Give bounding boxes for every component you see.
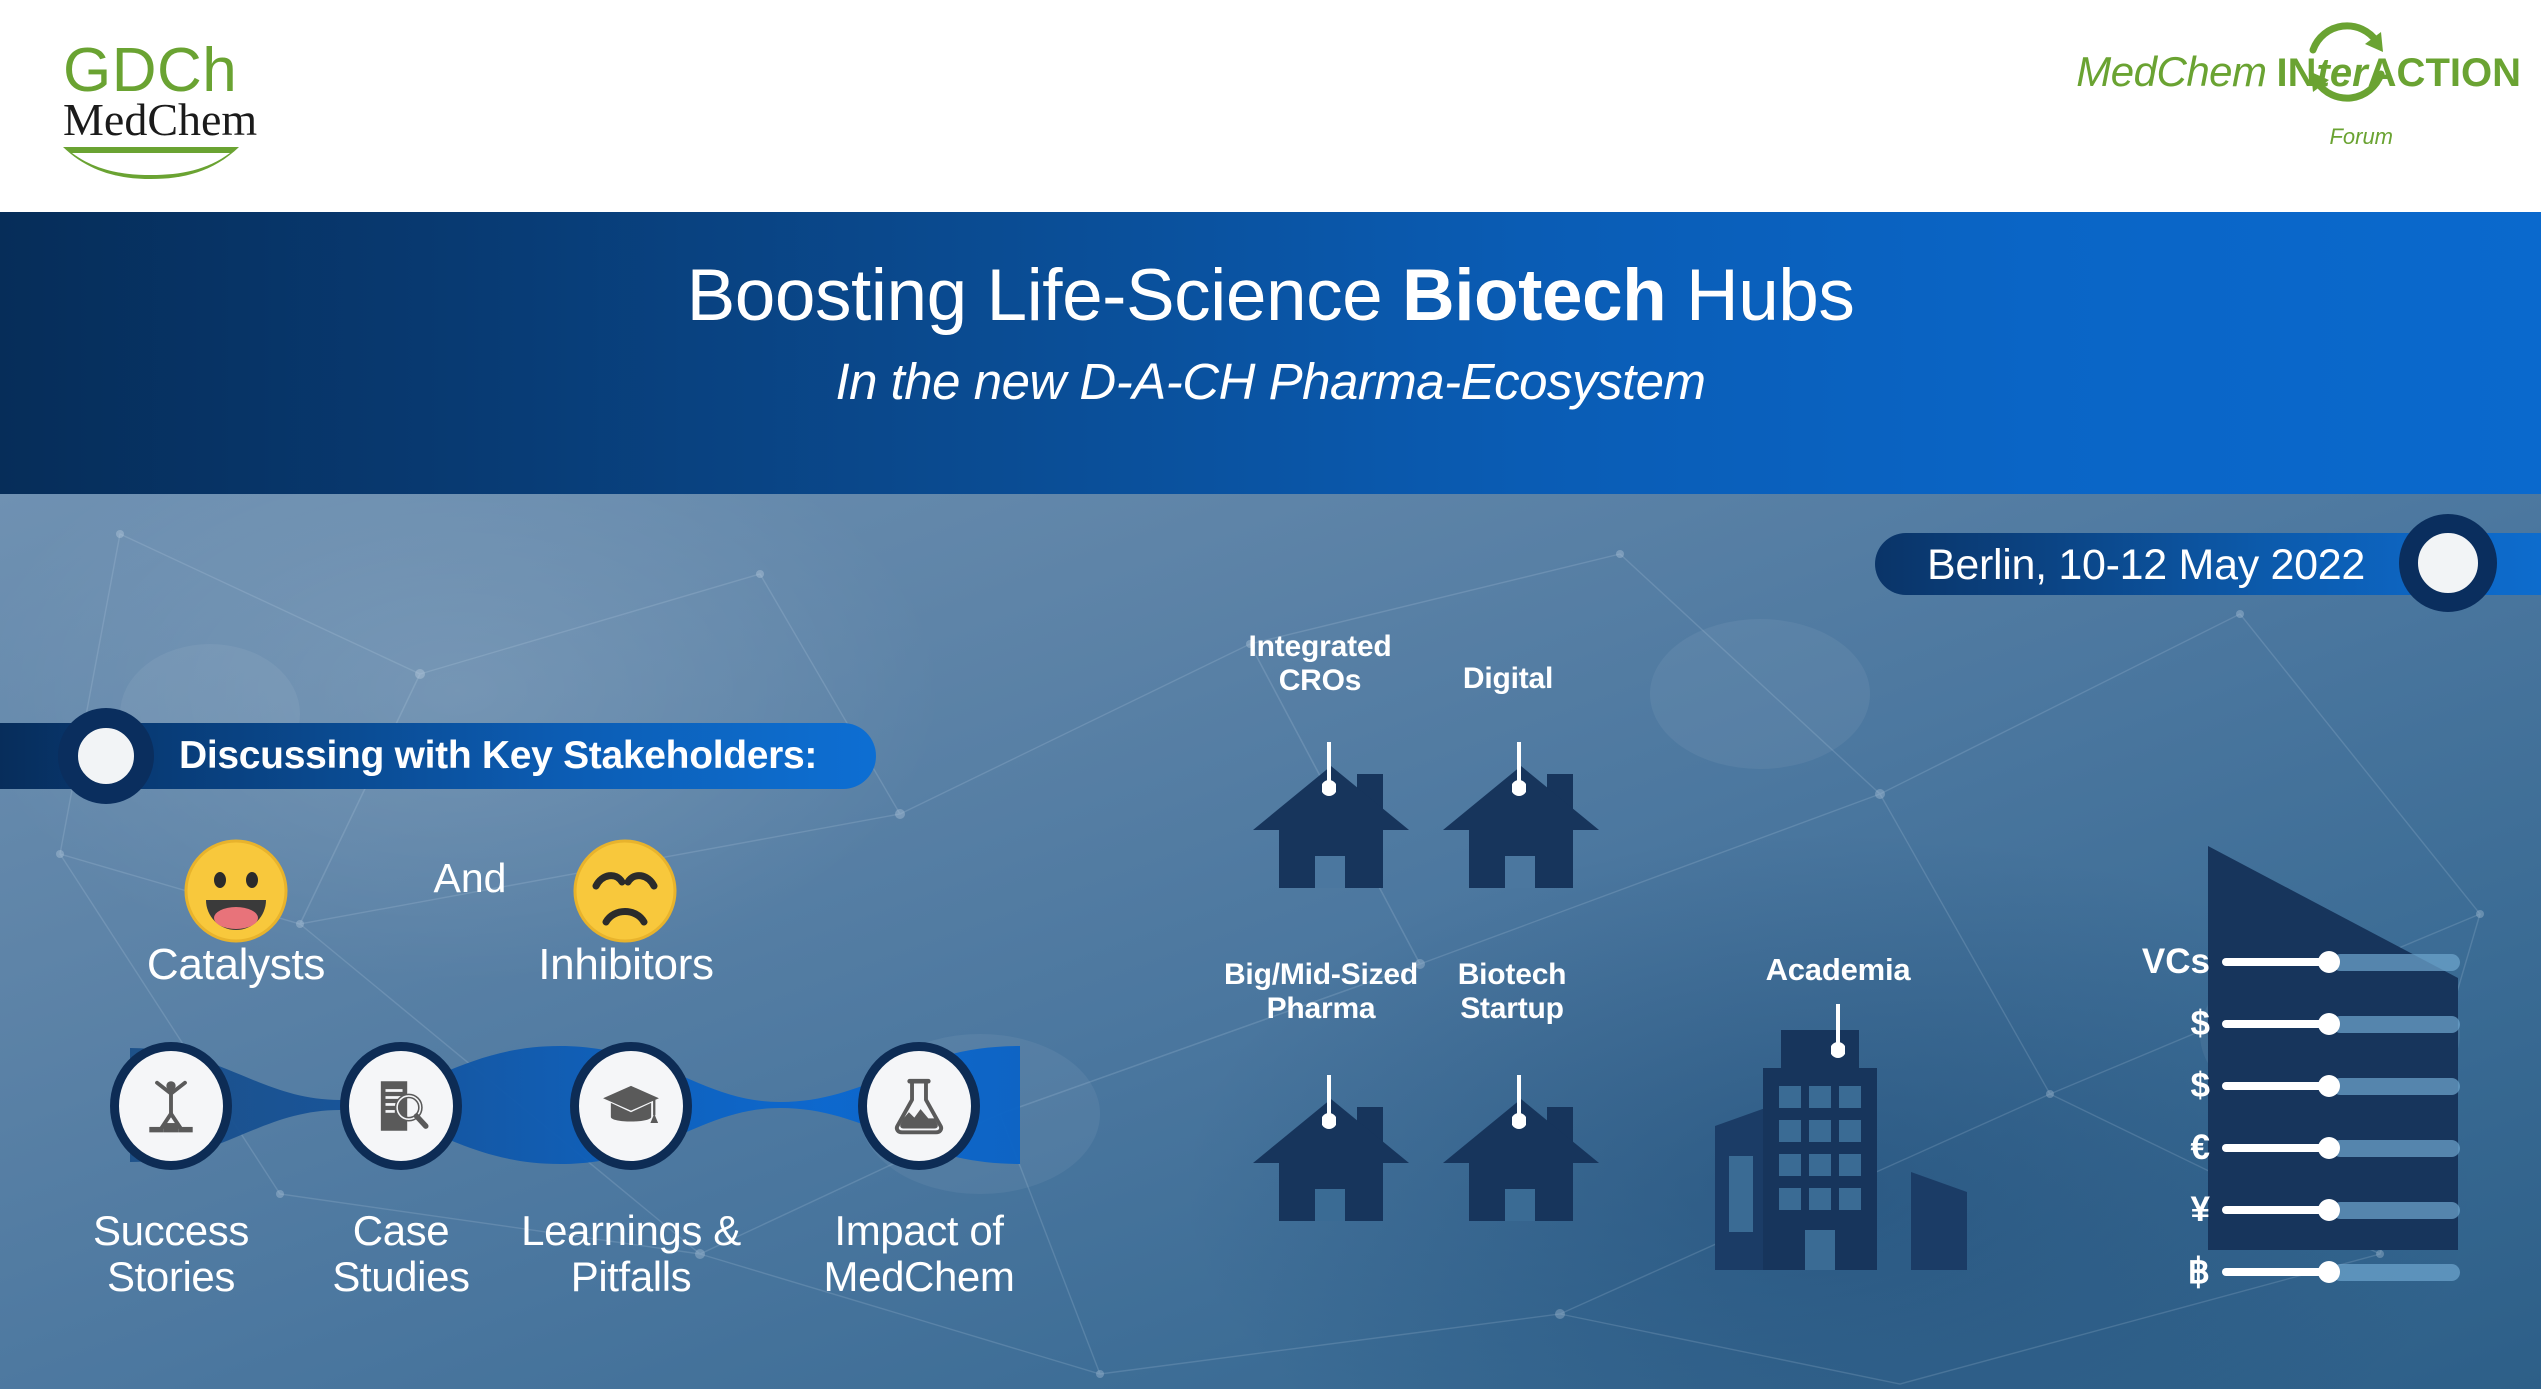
topic-label-impact-medchem: Impact of MedChem <box>769 1208 1069 1300</box>
vc-row-currency-0: $ <box>2130 1002 2530 1046</box>
vc-window-bar <box>2332 1078 2460 1095</box>
vc-stem <box>2222 1199 2402 1221</box>
vc-currency-label-bitcoin: ฿ <box>2130 1252 2222 1292</box>
vc-currency-label-yen: ¥ <box>2130 1190 2222 1230</box>
date-location-text: Berlin, 10-12 May 2022 <box>1927 536 2447 594</box>
grinning-face-emoji <box>181 836 291 946</box>
vc-currency-label-dollar-1: $ <box>2130 1004 2222 1044</box>
office-building-icon-academia <box>1715 1030 1967 1270</box>
gdch-logo-bottom: MedChem <box>63 97 283 143</box>
ecosystem-label-integrated-cros: Integrated CROs <box>1212 630 1428 697</box>
vc-window-bar <box>2332 1016 2460 1033</box>
header-bar: GDCh MedChem MedChem INterACTION Forum <box>0 0 2541 212</box>
logo-forum-word: Forum <box>2051 124 2521 150</box>
vc-currency-label-euro: € <box>2130 1128 2222 1168</box>
vc-stem <box>2222 1013 2402 1035</box>
vc-leader-knob-icon <box>2318 1137 2340 1159</box>
topic-node-learnings-pitfalls[interactable] <box>570 1042 692 1170</box>
pin-marker-pharma-icon <box>1322 1075 1336 1131</box>
inhibitors-label: Inhibitors <box>476 940 776 990</box>
vc-leader-knob-icon <box>2318 951 2340 973</box>
logo-medchem-word: MedChem <box>2076 48 2266 96</box>
topic-label-learnings-pitfalls: Learnings & Pitfalls <box>481 1208 781 1300</box>
vc-row-currency-1: $ <box>2130 1064 2530 1108</box>
ecosystem-label-biotech-startup: Biotech Startup <box>1404 958 1620 1025</box>
vc-window-bar <box>2332 1202 2460 1219</box>
page-subtitle: In the new D-A-CH Pharma-Ecosystem <box>0 352 2541 411</box>
medchem-interaction-forum-logo: MedChem INterACTION Forum <box>2051 48 2521 168</box>
vc-currency-label-dollar-2: $ <box>2130 1066 2222 1106</box>
ecosystem-label-academia: Academia <box>1711 953 1965 988</box>
stakeholders-badge-dot-icon <box>58 708 154 804</box>
logo-interaction-word: INterACTION <box>2277 51 2521 96</box>
topic-node-impact-medchem[interactable] <box>858 1042 980 1170</box>
erlenmeyer-flask-icon <box>888 1075 950 1137</box>
vc-title-label: VCs <box>2130 942 2222 982</box>
vc-stem <box>2222 1137 2402 1159</box>
vc-leader-knob-icon <box>2318 1199 2340 1221</box>
catalysts-label: Catalysts <box>86 940 386 990</box>
vc-stem <box>2222 1261 2402 1283</box>
pin-marker-startup-icon <box>1512 1075 1526 1131</box>
person-on-podium-icon <box>140 1075 202 1137</box>
vc-row-currency-3: ¥ <box>2130 1188 2530 1232</box>
vc-stem <box>2222 951 2402 973</box>
stakeholders-badge-text: Discussing with Key Stakeholders: <box>179 727 817 785</box>
vc-window-bar <box>2332 954 2460 971</box>
pin-marker-academia-icon <box>1831 1004 1845 1060</box>
page-title: Boosting Life-Science Biotech Hubs <box>0 254 2541 337</box>
graduation-cap-icon <box>600 1075 662 1137</box>
vc-window-bar <box>2332 1140 2460 1157</box>
and-connector-text: And <box>360 855 580 902</box>
vc-window-bar <box>2332 1264 2460 1281</box>
pin-marker-cros-icon <box>1322 742 1336 798</box>
vc-row-currency-4: ฿ <box>2130 1250 2530 1294</box>
vc-leader-knob-icon <box>2318 1261 2340 1283</box>
topic-node-case-studies[interactable] <box>340 1042 462 1170</box>
document-magnifier-icon <box>370 1075 432 1137</box>
pin-marker-digital-icon <box>1512 742 1526 798</box>
sad-face-emoji <box>570 836 680 946</box>
vc-leader-knob-icon <box>2318 1075 2340 1097</box>
vc-row-currency-2: € <box>2130 1126 2530 1170</box>
vc-list: VCs $ $ € <box>2130 940 2530 1312</box>
poster-root: GDCh MedChem MedChem INterACTION Forum B… <box>0 0 2541 1389</box>
vc-row-title: VCs <box>2130 940 2530 984</box>
smile-swoosh-icon <box>63 145 239 179</box>
vc-leader-knob-icon <box>2318 1013 2340 1035</box>
ecosystem-label-digital: Digital <box>1400 662 1616 696</box>
title-banner: Boosting Life-Science Biotech Hubs In th… <box>0 212 2541 494</box>
gdch-logo-top: GDCh <box>63 42 283 101</box>
gdch-medchem-logo: GDCh MedChem <box>63 42 283 167</box>
vc-stem <box>2222 1075 2402 1097</box>
topic-node-success-stories[interactable] <box>110 1042 232 1170</box>
